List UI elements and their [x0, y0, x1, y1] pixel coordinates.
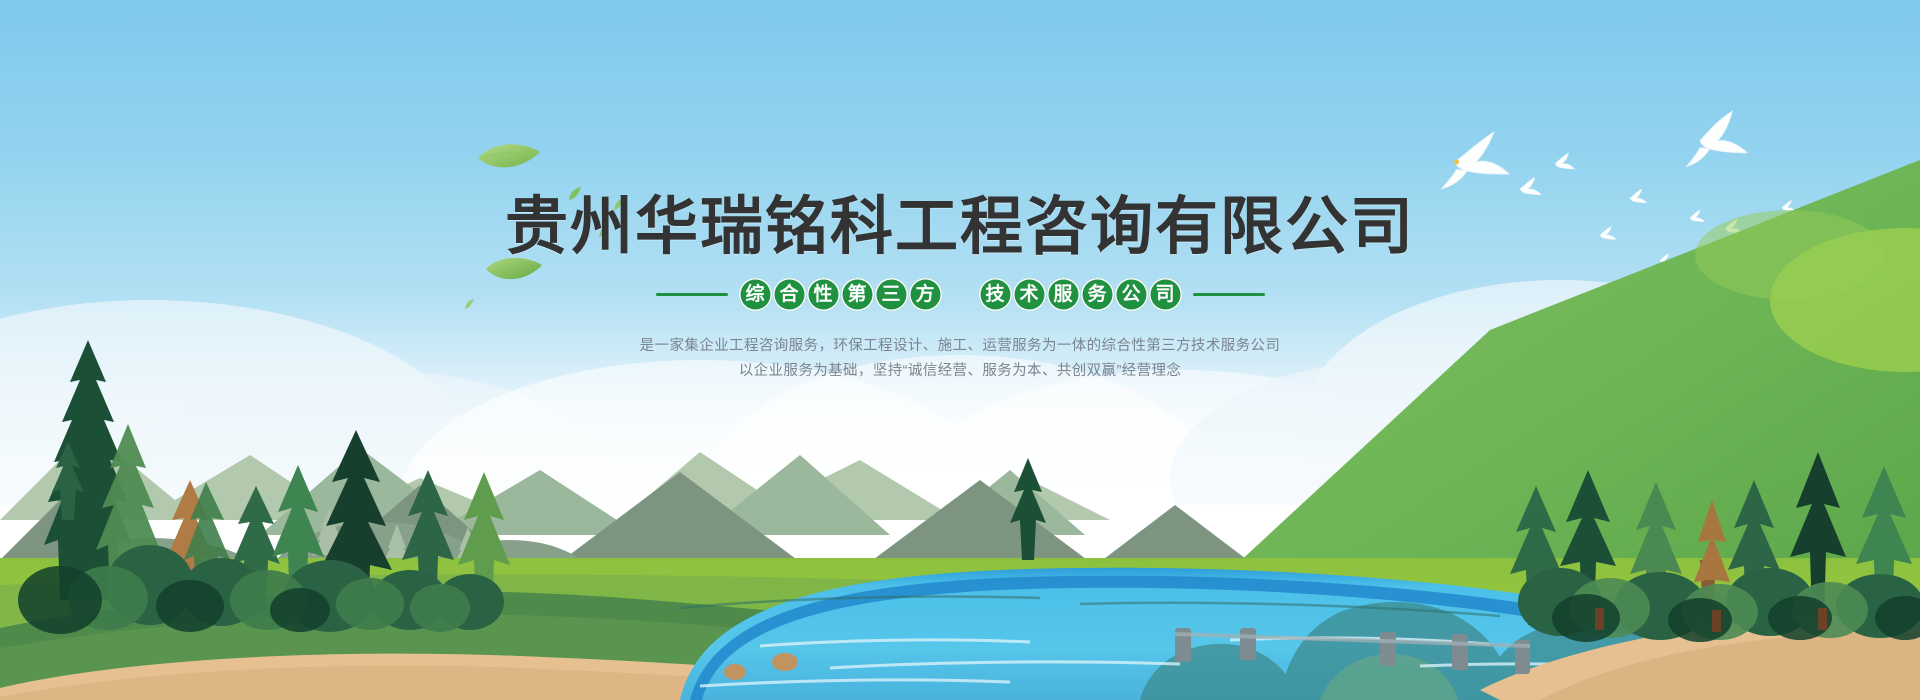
leaf-icon [612, 197, 626, 213]
leaf-icon [463, 298, 476, 312]
leaf-icon [474, 140, 544, 186]
leaf-icon [483, 255, 545, 297]
leaf-icon [567, 186, 583, 204]
right-pine-forest [0, 0, 1920, 700]
leaf-icon [597, 224, 611, 240]
company-hero-banner: 贵州华瑞铭科工程咨询有限公司 综 合 性 第 三 方 技 术 服 务 公 司 [0, 0, 1920, 700]
pine-cluster-right [1510, 452, 1920, 642]
